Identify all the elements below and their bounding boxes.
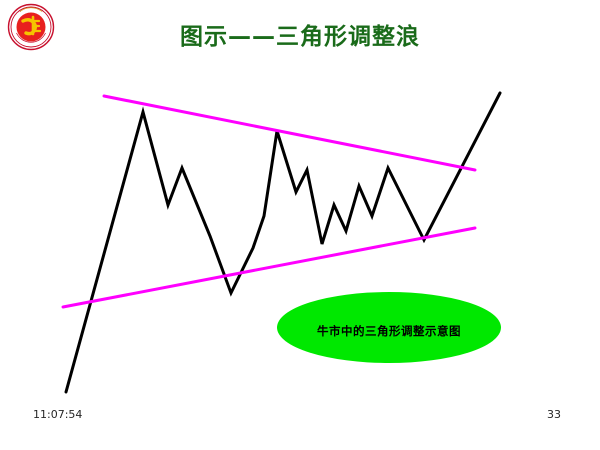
callout-ellipse: 牛市中的三角形调整示意图 xyxy=(277,292,501,363)
callout-label: 牛市中的三角形调整示意图 xyxy=(317,323,461,339)
triangle-pattern-figure xyxy=(0,0,600,450)
footer-page-number: 33 xyxy=(547,408,561,421)
footer-timestamp: 11:07:54 xyxy=(33,408,82,421)
upper-trendline xyxy=(104,96,475,170)
slide-canvas: · 图示——三角形调整浪 牛市中的三角形调整示意图 11:07:54 33 xyxy=(0,0,600,450)
